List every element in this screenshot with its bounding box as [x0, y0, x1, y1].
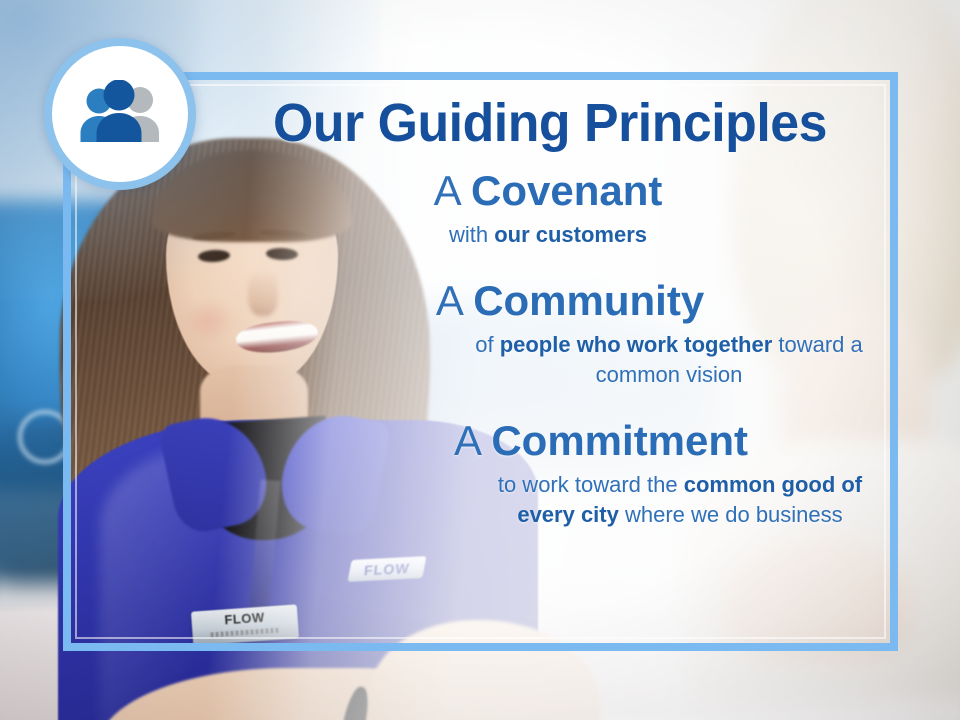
page-title: Our Guiding Principles [224, 78, 877, 152]
principle-body-emphasis: our customers [494, 222, 647, 247]
principle-body-part: to work toward the [498, 472, 684, 497]
principle-community: A Community of people who work together … [250, 276, 890, 390]
principle-keyword: Community [473, 277, 704, 324]
principles-list: A Covenant with our customers A Communit… [210, 166, 890, 530]
people-group-badge [44, 38, 196, 190]
content-block: Our Guiding Principles A Covenant with o… [210, 78, 890, 638]
principle-body-emphasis: people who work together [500, 332, 773, 357]
principle-body-part: where we do business [619, 502, 843, 527]
principle-body-part: with [449, 222, 494, 247]
principle-heading: A Commitment [312, 416, 890, 466]
principle-keyword: Commitment [491, 417, 748, 464]
principle-article: A [436, 277, 473, 324]
principle-body: of people who work together toward a com… [454, 330, 884, 390]
principle-body: with our customers [206, 220, 890, 250]
principle-article: A [454, 417, 491, 464]
principle-covenant: A Covenant with our customers [206, 166, 890, 250]
guiding-principles-graphic: Our Guiding Principles A Covenant with o… [0, 0, 960, 720]
principle-heading: A Covenant [206, 166, 890, 216]
principle-keyword: Covenant [471, 167, 662, 214]
principle-heading: A Community [250, 276, 890, 326]
principle-body: to work toward the common good of every … [470, 470, 890, 530]
people-group-icon [72, 80, 168, 148]
principle-commitment: A Commitment to work toward the common g… [312, 416, 890, 530]
principle-body-part: of [475, 332, 499, 357]
principle-article: A [434, 167, 471, 214]
